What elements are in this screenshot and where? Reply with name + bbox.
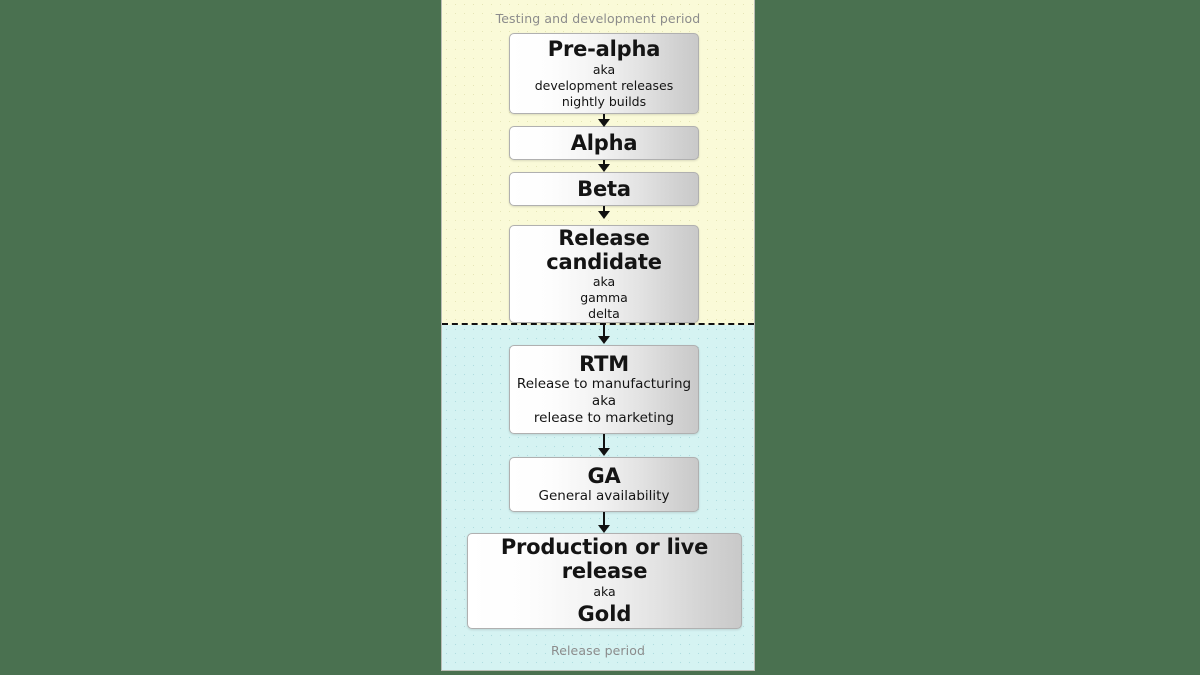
arrow-shaft [603, 434, 605, 448]
band-caption-testing: Testing and development period [442, 11, 754, 26]
arrow-pre-alpha-to-alpha [597, 114, 611, 127]
stage-box-alpha[interactable]: Alpha [509, 126, 699, 160]
stage-strong-production-gold: Gold [578, 602, 632, 627]
stage-sub-rtm-3: release to marketing [534, 410, 674, 427]
stage-title-alpha: Alpha [571, 131, 638, 155]
stage-box-ga[interactable]: GA General availability [509, 457, 699, 512]
arrow-head [598, 448, 610, 456]
band-caption-release: Release period [442, 643, 754, 658]
arrow-shaft [603, 512, 605, 525]
stage-box-rtm[interactable]: RTM Release to manufacturing aka release… [509, 345, 699, 434]
arrow-alpha-to-beta [597, 160, 611, 172]
stage-sub-release-candidate-1: aka [593, 274, 615, 290]
stage-sub-production-1: aka [593, 584, 615, 600]
stage-title-ga: GA [587, 464, 620, 488]
stage-title-beta: Beta [577, 177, 631, 201]
stage-sub-release-candidate-3: delta [588, 306, 620, 322]
arrow-ga-to-production [597, 512, 611, 533]
stage-box-production[interactable]: Production or live release aka Gold [467, 533, 742, 629]
stage-sub-pre-alpha-3: nightly builds [562, 94, 646, 110]
arrow-release-candidate-to-rtm [597, 323, 611, 344]
stage-sub-pre-alpha-1: aka [593, 62, 615, 78]
arrow-beta-to-release-candidate [597, 206, 611, 219]
stage-title-rtm: RTM [579, 352, 629, 376]
stage-sub-pre-alpha-2: development releases [535, 78, 674, 94]
stage-box-beta[interactable]: Beta [509, 172, 699, 206]
stage-sub-rtm-2: aka [592, 393, 616, 410]
arrow-head [598, 164, 610, 172]
stage-box-pre-alpha[interactable]: Pre-alpha aka development releases night… [509, 33, 699, 114]
software-release-lifecycle-diagram: Testing and development period Release p… [441, 0, 755, 671]
arrow-rtm-to-ga [597, 434, 611, 456]
arrow-head [598, 119, 610, 127]
arrow-head [598, 336, 610, 344]
arrow-head [598, 211, 610, 219]
stage-title-pre-alpha: Pre-alpha [548, 37, 660, 61]
stage-box-release-candidate[interactable]: Release candidate aka gamma delta [509, 225, 699, 323]
stage-sub-rtm-1: Release to manufacturing [517, 376, 691, 393]
arrow-head [598, 525, 610, 533]
stage-title-release-candidate: Release candidate [510, 226, 698, 274]
stage-sub-ga-1: General availability [539, 488, 670, 505]
arrow-shaft [603, 323, 605, 336]
stage-title-production: Production or live release [468, 535, 741, 583]
stage-sub-release-candidate-2: gamma [580, 290, 628, 306]
